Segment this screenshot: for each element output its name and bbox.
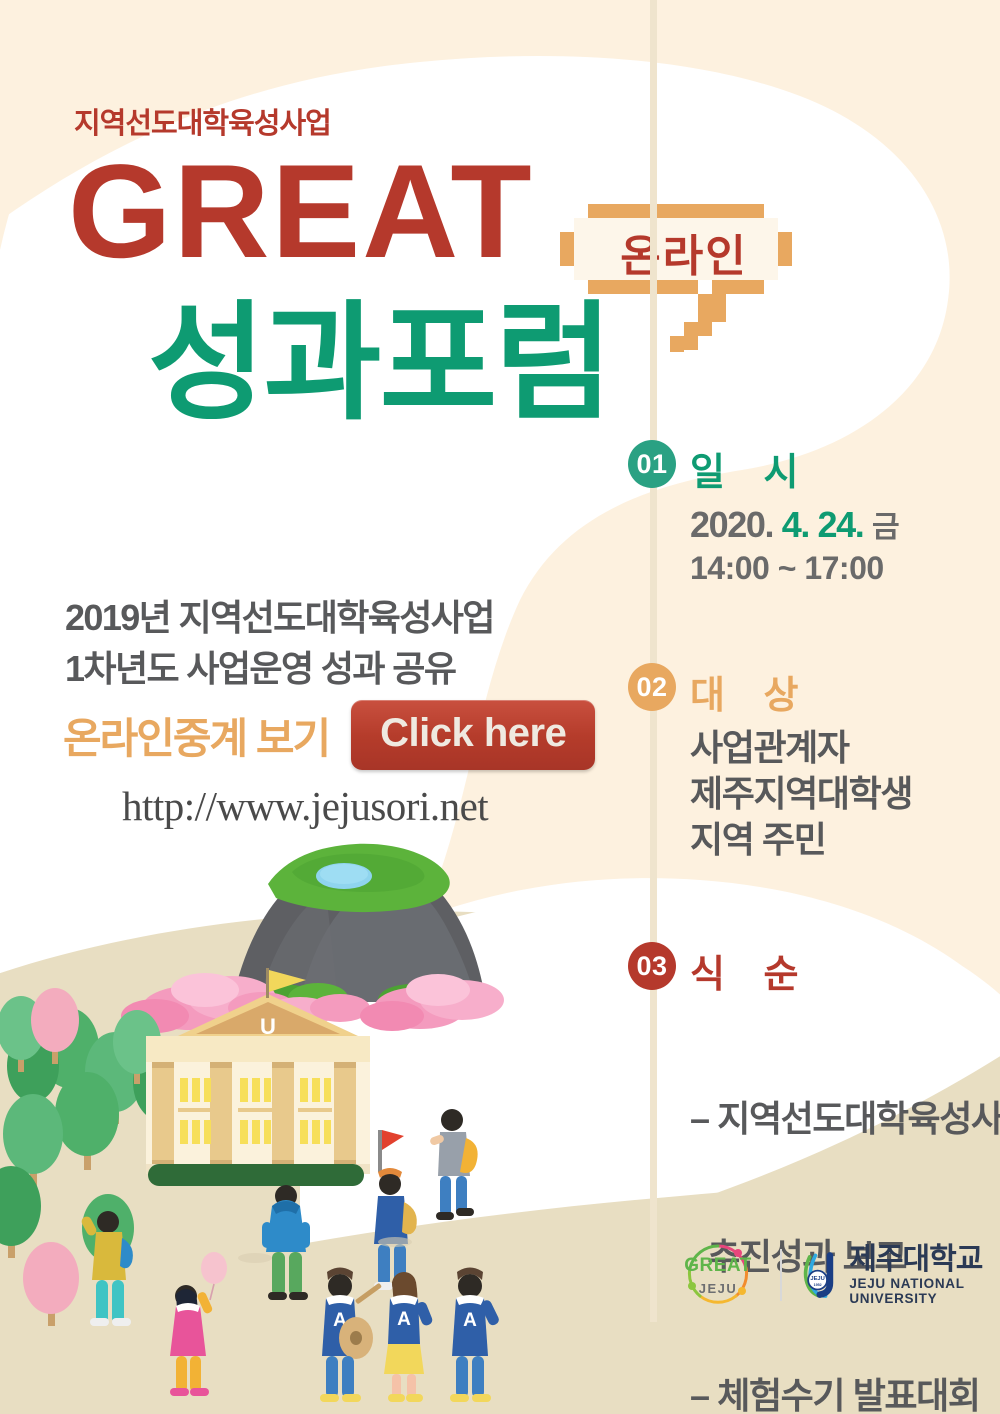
student-boy-A: A	[450, 1268, 501, 1403]
online-speech-bubble: 온라인	[560, 196, 810, 366]
section-title-date: 일 시	[690, 441, 812, 496]
lead-text: 2019년 지역선도대학육성사업 1차년도 사업운영 성과 공유	[65, 592, 494, 694]
logo-bar: GREAT JEJU JEJU 1952 제주대학교 JEJU NATIONAL…	[672, 1241, 1000, 1309]
jnu-text-block: 제주대학교 JEJU NATIONAL UNIVERSITY	[849, 1244, 1000, 1306]
student-flag-bearer	[374, 1130, 417, 1290]
section-title-program: 식 순	[690, 943, 812, 998]
jnu-name-korean: 제주대학교	[849, 1244, 1000, 1276]
page-title: GREAT	[68, 146, 534, 279]
jnu-emblem-icon: JEJU 1952	[798, 1244, 840, 1306]
stream-url-link[interactable]: http://www.jejusori.net	[122, 782, 488, 830]
section-title-audience: 대 상	[690, 664, 812, 719]
click-here-button[interactable]: Click here	[351, 700, 595, 770]
lead-line-1: 2019년 지역선도대학육성사업	[65, 592, 494, 643]
vertical-divider	[650, 0, 657, 1322]
svg-text:A: A	[397, 1309, 411, 1330]
page-subtitle: 성과포럼	[148, 300, 611, 428]
audience-item: 지역 주민	[690, 817, 912, 863]
section-badge-02: 02	[628, 663, 676, 711]
student-guitarist-A: A	[320, 1268, 382, 1403]
jeju-national-university-logo: JEJU 1952 제주대학교 JEJU NATIONAL UNIVERSITY	[798, 1244, 1000, 1306]
watch-label: 온라인중계 보기	[63, 705, 329, 766]
logo-separator	[780, 1249, 782, 1301]
date-suffix: 금	[872, 511, 899, 544]
poster-root: U	[0, 0, 1000, 1414]
section-body-program: – 지역선도대학육성사업 추진성과 보고 – 체험수기 발표대회	[690, 1004, 1000, 1414]
bubble-label: 온라인	[604, 220, 764, 284]
section-badge-03: 03	[628, 942, 676, 990]
jnu-name-english: JEJU NATIONAL UNIVERSITY	[849, 1276, 1000, 1306]
kicker-text: 지역선도대학육성사업	[74, 100, 331, 142]
svg-text:A: A	[463, 1310, 477, 1331]
audience-item: 사업관계자	[690, 725, 912, 771]
lead-line-2: 1차년도 사업운영 성과 공유	[65, 643, 494, 694]
section-body-audience: 사업관계자 제주지역대학생 지역 주민	[690, 725, 912, 863]
svg-text:1952: 1952	[814, 1283, 822, 1287]
woman-pink-dress-balloon	[170, 1252, 227, 1396]
audience-item: 제주지역대학생	[690, 771, 912, 817]
student-blue-hoodie	[262, 1185, 310, 1300]
section-badge-01: 01	[628, 440, 676, 488]
great-logo-sub: JEJU	[672, 1281, 764, 1296]
svg-text:JEJU: JEJU	[811, 1276, 826, 1282]
event-time: 14:00 ~ 17:00	[690, 548, 899, 589]
date-prefix: 2020.	[690, 504, 773, 545]
great-jeju-logo: GREAT JEJU	[672, 1241, 764, 1309]
program-item: – 체험수기 발표대회	[690, 1373, 1000, 1414]
watch-stream-row: 온라인중계 보기 Click here	[63, 700, 595, 770]
student-backpacker	[429, 1109, 478, 1220]
great-logo-text: GREAT	[672, 1255, 764, 1277]
svg-text:U: U	[260, 1014, 276, 1039]
program-item: – 지역선도대학육성사업	[690, 1096, 1000, 1142]
section-body-date: 2020. 4. 24. 금 14:00 ~ 17:00	[690, 502, 899, 589]
date-highlight: 4. 24.	[782, 504, 864, 545]
student-girl-A: A	[384, 1272, 434, 1402]
event-date-line: 2020. 4. 24. 금	[690, 502, 899, 548]
pink-tree	[23, 1242, 79, 1326]
